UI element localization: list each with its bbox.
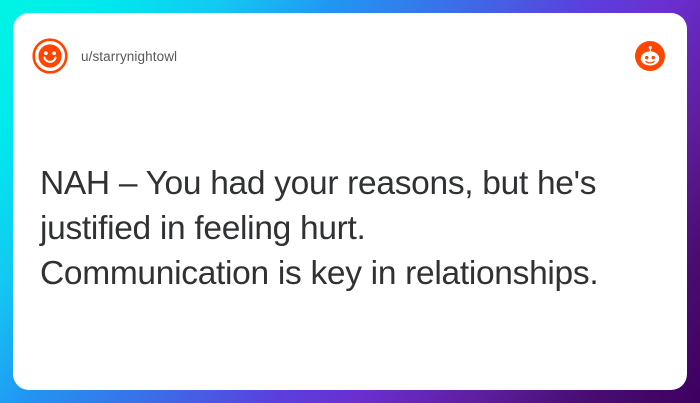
username-label[interactable]: u/starrynightowl: [81, 49, 177, 64]
gradient-backdrop: u/starrynightowl NAH: [0, 0, 700, 403]
card-header: u/starrynightowl: [13, 13, 687, 99]
post-text-line: Communication is key in relationships.: [40, 251, 665, 296]
post-text-block: NAH – You had your reasons, but he's jus…: [40, 161, 665, 296]
smiley-face-avatar-icon[interactable]: [32, 38, 68, 74]
reddit-comment-card: u/starrynightowl NAH: [13, 13, 687, 390]
post-text-line: NAH – You had your reasons, but he's: [40, 161, 665, 206]
post-text-line: justified in feeling hurt.: [40, 206, 665, 251]
reddit-snoo-logo-icon[interactable]: [635, 41, 665, 71]
